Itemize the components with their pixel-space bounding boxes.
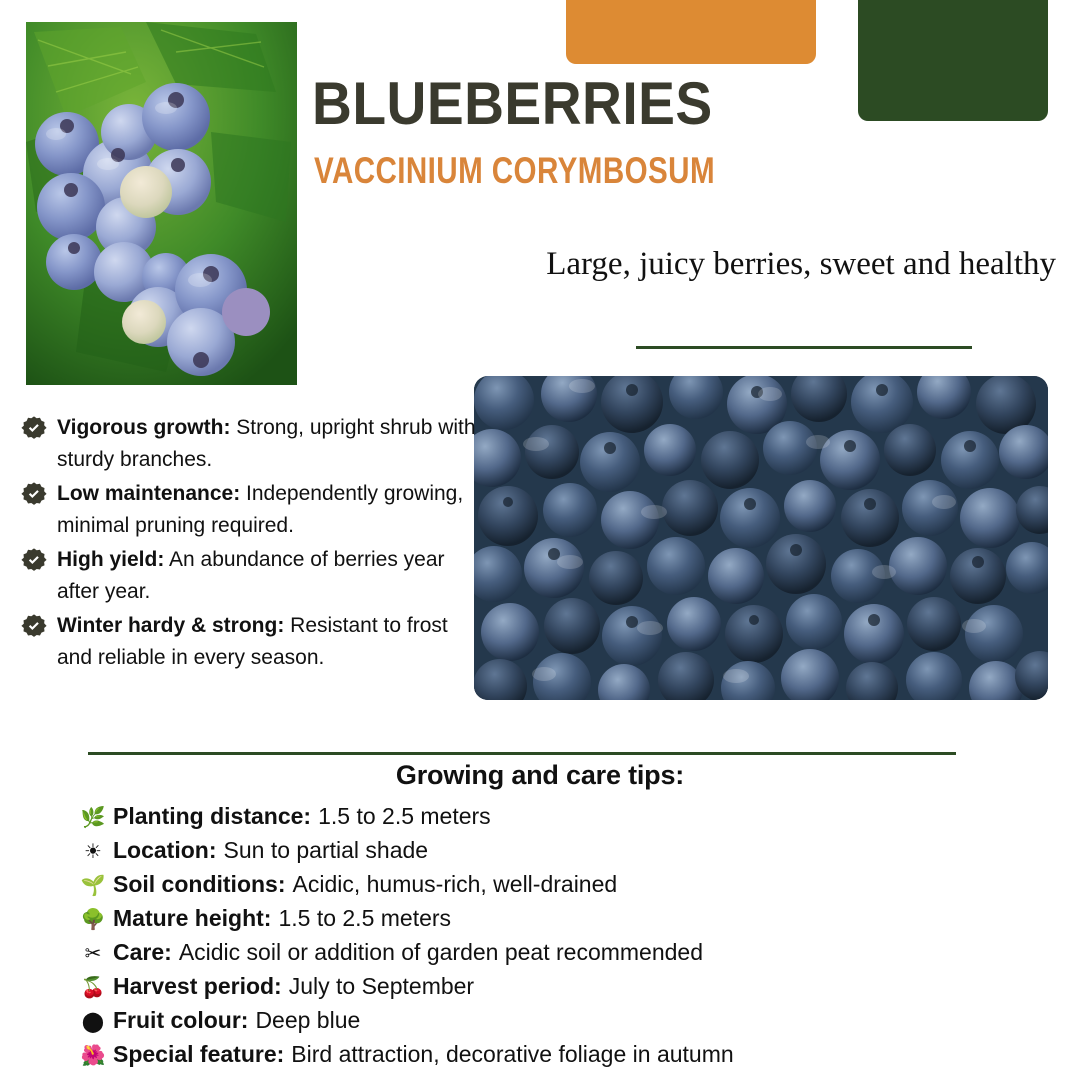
circle-icon: ⬤ [80,1005,106,1038]
tip-value: 1.5 to 2.5 meters [278,902,451,935]
tip-label: Planting distance: [113,800,311,833]
list-item: High yield: An abundance of berries year… [20,544,480,608]
tip-value: Deep blue [255,1004,360,1037]
check-badge-icon [20,547,48,575]
tips-heading: Growing and care tips: [0,760,1080,791]
tip-value: 1.5 to 2.5 meters [318,800,491,833]
feature-text: High yield: An abundance of berries year… [57,544,480,608]
list-item: ✂ Care: Acidic soil or addition of garde… [80,936,1020,970]
tip-label: Fruit colour: [113,1004,248,1037]
feature-label: Low maintenance: [57,482,240,505]
tip-label: Soil conditions: [113,868,286,901]
feature-label: High yield: [57,548,164,571]
hibiscus-icon: 🌺 [80,1039,106,1072]
divider-short [636,346,972,349]
feature-text: Winter hardy & strong: Resistant to fros… [57,610,480,674]
blueberry-bush-photo [26,22,297,385]
check-badge-icon [20,481,48,509]
blueberry-closeup-photo [474,376,1048,700]
latin-name-subtitle: VACCINIUM CORYMBOSUM [314,152,715,189]
tip-value: Bird attraction, decorative foliage in a… [291,1038,733,1071]
seedling-icon: 🌱 [80,869,106,902]
tip-value: Sun to partial shade [224,834,429,867]
tip-label: Harvest period: [113,970,282,1003]
orange-accent-block [566,0,816,64]
scissors-icon: ✂ [80,937,106,970]
feature-label: Winter hardy & strong: [57,614,284,637]
tip-label: Care: [113,936,172,969]
growing-tips-list: 🌿 Planting distance: 1.5 to 2.5 meters ☀… [80,800,1020,1072]
tip-value: Acidic soil or addition of garden peat r… [179,936,703,969]
tip-value: Acidic, humus-rich, well-drained [293,868,618,901]
poster-page: BLUEBERRIES VACCINIUM CORYMBOSUM Large, … [0,0,1080,1080]
tagline: Large, juicy berries, sweet and healthy [546,246,1056,283]
list-item: 🌿 Planting distance: 1.5 to 2.5 meters [80,800,1020,834]
check-badge-icon [20,613,48,641]
herb-icon: 🌿 [80,801,106,834]
feature-list: Vigorous growth: Strong, upright shrub w… [20,412,480,676]
list-item: ⬤ Fruit colour: Deep blue [80,1004,1020,1038]
tip-value: July to September [289,970,474,1003]
list-item: 🌺 Special feature: Bird attraction, deco… [80,1038,1020,1072]
list-item: 🌳 Mature height: 1.5 to 2.5 meters [80,902,1020,936]
divider-long [88,752,956,755]
list-item: 🌱 Soil conditions: Acidic, humus-rich, w… [80,868,1020,902]
cherries-icon: 🍒 [80,971,106,1004]
check-badge-icon [20,415,48,443]
list-item: Winter hardy & strong: Resistant to fros… [20,610,480,674]
list-item: ☀ Location: Sun to partial shade [80,834,1020,868]
list-item: 🍒 Harvest period: July to September [80,970,1020,1004]
tip-label: Location: [113,834,217,867]
feature-text: Low maintenance: Independently growing, … [57,478,480,542]
page-title: BLUEBERRIES [312,74,713,134]
feature-text: Vigorous growth: Strong, upright shrub w… [57,412,480,476]
tree-icon: 🌳 [80,903,106,936]
list-item: Low maintenance: Independently growing, … [20,478,480,542]
feature-label: Vigorous growth: [57,416,230,439]
tip-label: Mature height: [113,902,271,935]
sun-icon: ☀ [80,835,106,868]
green-accent-block [858,0,1048,121]
tip-label: Special feature: [113,1038,284,1071]
list-item: Vigorous growth: Strong, upright shrub w… [20,412,480,476]
